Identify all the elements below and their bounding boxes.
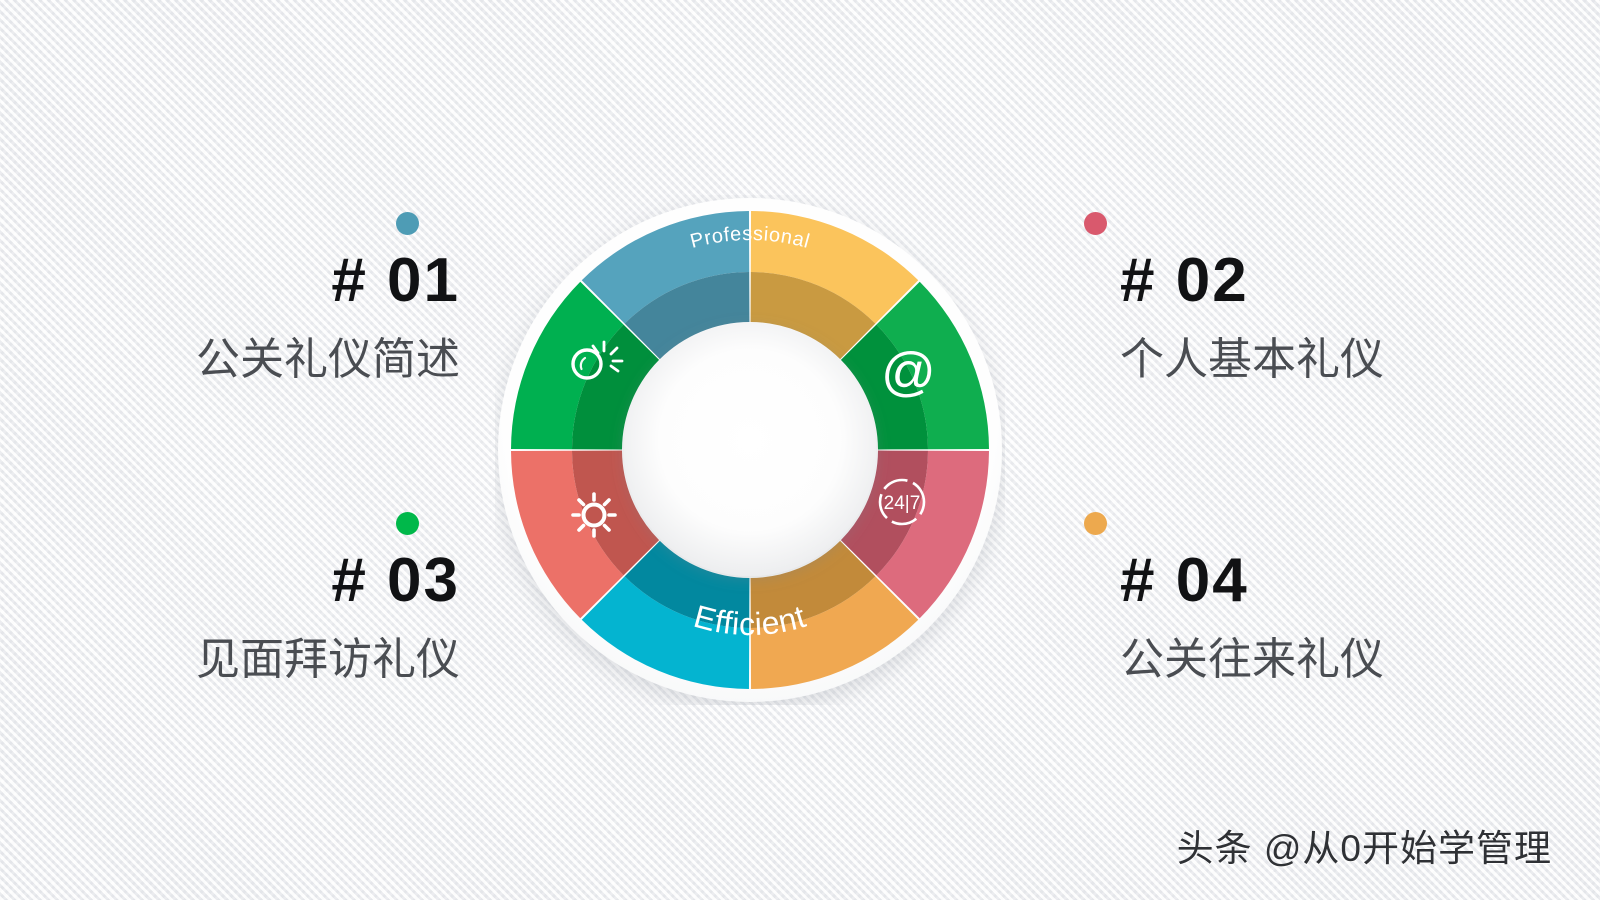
item-number-03: # 03	[40, 550, 460, 612]
svg-text:@: @	[881, 342, 936, 402]
item-caption-04: 公关往来礼仪	[1120, 638, 1540, 682]
list-item-03[interactable]: # 03 见面拜访礼仪	[40, 550, 460, 682]
list-item-04[interactable]: # 04 公关往来礼仪	[1120, 550, 1540, 682]
svg-text:24|7: 24|7	[884, 493, 921, 514]
item-number-01: # 01	[40, 250, 460, 312]
bullet-dot-04	[1084, 512, 1107, 535]
donut-wheel-diagram[interactable]: Professional Efficient @	[495, 195, 1005, 705]
list-item-02[interactable]: # 02 个人基本礼仪	[1120, 250, 1540, 382]
slide-canvas: # 01 公关礼仪简述 # 02 个人基本礼仪 # 03 见面拜访礼仪 # 04…	[0, 0, 1600, 900]
watermark: 头条 @从0开始学管理	[1177, 818, 1552, 872]
wheel-hub	[624, 324, 876, 576]
item-number-02: # 02	[1120, 250, 1540, 312]
list-item-01[interactable]: # 01 公关礼仪简述	[40, 250, 460, 382]
item-caption-03: 见面拜访礼仪	[40, 638, 460, 682]
at-sign-icon[interactable]: @	[881, 342, 936, 402]
bullet-dot-01	[396, 212, 419, 235]
bullet-dot-03	[396, 512, 419, 535]
item-caption-02: 个人基本礼仪	[1120, 338, 1540, 382]
item-number-04: # 04	[1120, 550, 1540, 612]
wheel-svg: Professional Efficient @	[495, 195, 1005, 705]
bullet-dot-02	[1084, 212, 1107, 235]
item-caption-01: 公关礼仪简述	[40, 338, 460, 382]
